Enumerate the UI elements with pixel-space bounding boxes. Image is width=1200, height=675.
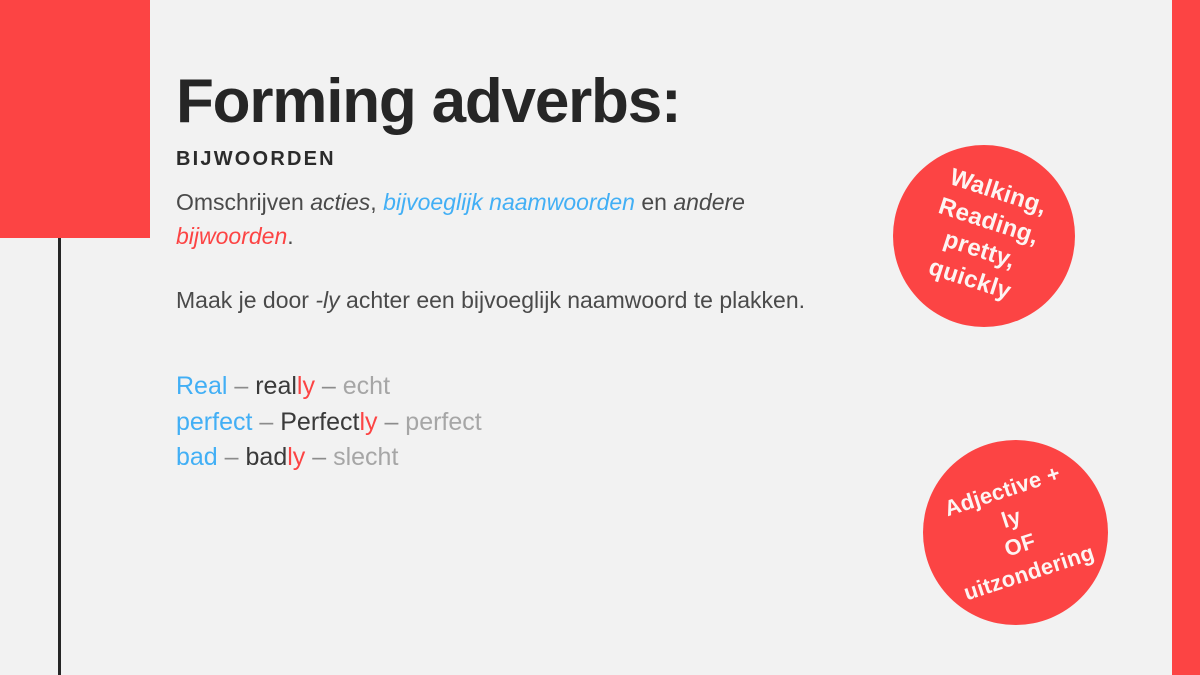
example-adverb-stem: bad <box>246 443 288 471</box>
example-dash: – <box>305 443 333 471</box>
decoration-red-block-top-left <box>0 0 150 238</box>
list-item: perfect – Perfectly – perfect <box>176 405 856 441</box>
badge-rule: Adjective +lyOFuitzondering <box>923 440 1108 625</box>
definition-text-comma: , <box>370 189 383 215</box>
example-adjective: perfect <box>176 408 252 436</box>
decoration-vertical-line <box>58 238 61 675</box>
example-dash: – <box>252 408 280 436</box>
definition-text-en: en <box>635 189 673 215</box>
example-dash: – <box>227 372 255 400</box>
section-kicker: BIJWOORDEN <box>176 148 856 171</box>
rule-paragraph: Maak je door -ly achter een bijvoeglijk … <box>176 283 856 317</box>
example-adverb-suffix: ly <box>359 408 377 436</box>
example-adjective: Real <box>176 372 227 400</box>
definition-text-acties: acties <box>310 189 370 215</box>
example-dash: – <box>218 443 246 471</box>
examples-list: Real – really – echt perfect – Perfectly… <box>176 369 856 476</box>
example-dash: – <box>315 372 343 400</box>
example-adverb-stem: Perfect <box>280 408 359 436</box>
content-body: BIJWOORDEN Omschrijven acties, bijvoegli… <box>176 148 856 476</box>
example-dash: – <box>378 408 406 436</box>
rule-text-1: Maak je door <box>176 287 315 313</box>
list-item: bad – badly – slecht <box>176 440 856 476</box>
example-adverb-suffix: ly <box>297 372 315 400</box>
slide-canvas: Forming adverbs: BIJWOORDEN Omschrijven … <box>0 0 1200 675</box>
definition-text-bijwoorden: bijwoorden <box>176 223 287 249</box>
definition-paragraph: Omschrijven acties, bijvoeglijk naamwoor… <box>176 185 856 253</box>
rule-text-ly-suffix: -ly <box>315 287 339 313</box>
badge-examples: Walking,Reading,pretty,quickly <box>893 145 1075 327</box>
example-adjective: bad <box>176 443 218 471</box>
example-translation: echt <box>343 372 390 400</box>
rule-text-2: achter een bijvoeglijk naamwoord te plak… <box>340 287 805 313</box>
example-translation: slecht <box>333 443 398 471</box>
definition-text-bijvoeglijk-naamwoorden: bijvoeglijk naamwoorden <box>383 189 635 215</box>
definition-text-1: Omschrijven <box>176 189 310 215</box>
example-adverb-suffix: ly <box>287 443 305 471</box>
list-item: Real – really – echt <box>176 369 856 405</box>
page-title: Forming adverbs: <box>176 68 680 136</box>
example-adverb-stem: real <box>255 372 297 400</box>
definition-text-andere: andere <box>673 189 745 215</box>
decoration-red-bar-right <box>1172 0 1200 675</box>
badge-rule-label: Adjective +lyOFuitzondering <box>933 457 1097 608</box>
badge-examples-label: Walking,Reading,pretty,quickly <box>916 162 1053 311</box>
definition-text-period: . <box>287 223 293 249</box>
example-translation: perfect <box>405 408 481 436</box>
